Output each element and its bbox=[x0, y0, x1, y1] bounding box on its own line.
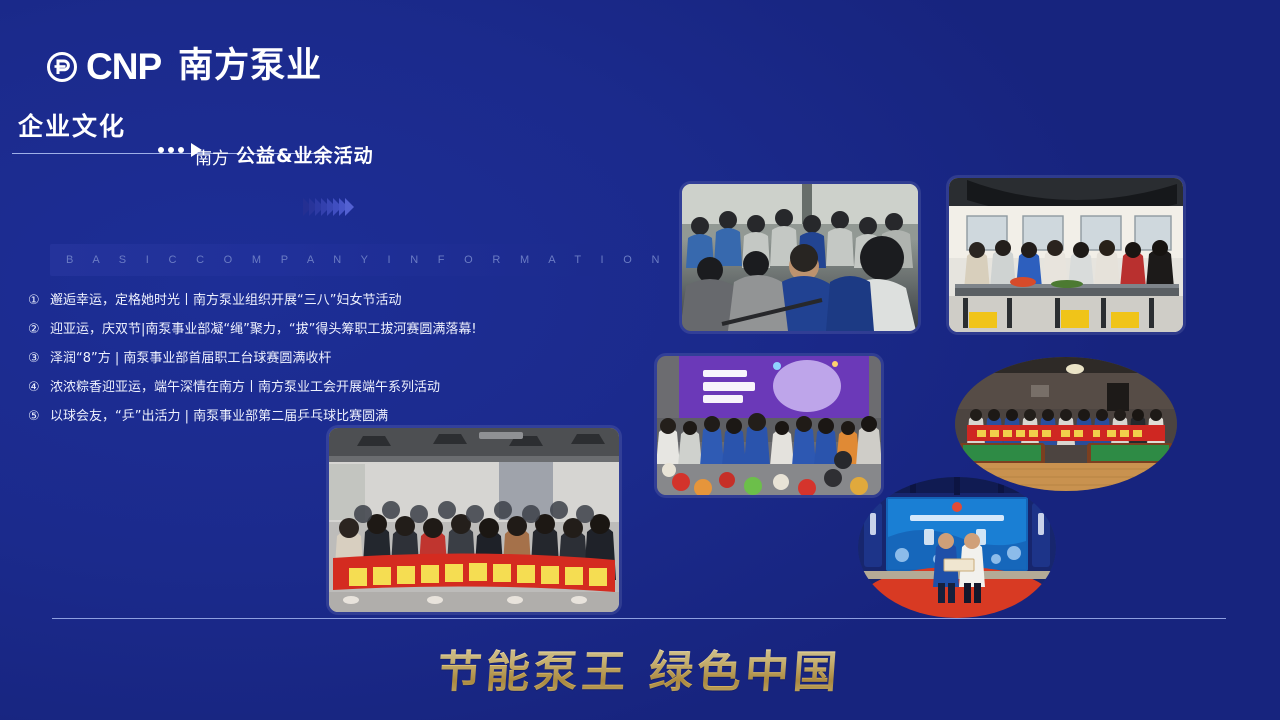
footer-slogan: 节能泵王 绿色中国 bbox=[436, 636, 844, 700]
photo-pingpong[interactable] bbox=[329, 428, 619, 612]
activity-list: ① 邂逅幸运，定格她时光丨南方泵业组织开展“三八”妇女节活动 ② 迎亚运，庆双节… bbox=[28, 292, 608, 437]
list-item-number: ⑤ bbox=[28, 408, 50, 426]
subtitle-prefix: 南方 bbox=[195, 144, 229, 169]
list-item-label: 邂逅幸运，定格她时光丨南方泵业组织开展“三八”妇女节活动 bbox=[50, 292, 401, 310]
brand-name-cn: 南方泵业 bbox=[178, 49, 322, 84]
brand-name-en: CNP bbox=[86, 48, 161, 85]
photo-billiards[interactable] bbox=[955, 357, 1177, 491]
cnp-circle-logo-icon bbox=[47, 52, 77, 82]
section-header: 企业文化 南方 公益&业余活动 bbox=[12, 113, 632, 141]
chevron-row-icon bbox=[303, 198, 351, 216]
list-item-number: ② bbox=[28, 321, 50, 339]
list-item-number: ① bbox=[28, 292, 50, 310]
list-item[interactable]: ① 邂逅幸运，定格她时光丨南方泵业组织开展“三八”妇女节活动 bbox=[28, 292, 608, 310]
list-item-label: 以球会友，“乒”出活力 | 南泵事业部第二届乒乓球比赛圆满 bbox=[50, 408, 388, 426]
footer: 节能泵王 绿色中国 bbox=[0, 636, 1280, 700]
slide-root: CNP 南方泵业 企业文化 南方 公益&业余活动 B A S I C C O M… bbox=[0, 0, 1280, 720]
list-item-number: ④ bbox=[28, 379, 50, 397]
subtitle: 公益&业余活动 bbox=[236, 141, 374, 168]
basic-company-information-band: B A S I C C O M P A N Y I N F O R M A T … bbox=[50, 244, 595, 276]
band-label: B A S I C C O M P A N Y I N F O R M A T … bbox=[50, 254, 668, 266]
list-item[interactable]: ② 迎亚运，庆双节|南泵事业部凝“绳”聚力，“拔”得头筹职工拔河赛圆满落幕! bbox=[28, 321, 608, 339]
photo-tugofwar[interactable] bbox=[682, 184, 918, 331]
page-title: 企业文化 bbox=[12, 113, 632, 141]
list-item[interactable]: ③ 泽润“8”方 | 南泵事业部首届职工台球赛圆满收杆 bbox=[28, 350, 608, 368]
list-item-label: 浓浓粽香迎亚运，端午深情在南方丨南方泵业工会开展端午系列活动 bbox=[50, 379, 440, 397]
list-item[interactable]: ⑤ 以球会友，“乒”出活力 | 南泵事业部第二届乒乓球比赛圆满 bbox=[28, 408, 608, 426]
list-item-label: 泽润“8”方 | 南泵事业部首届职工台球赛圆满收杆 bbox=[50, 350, 331, 368]
footer-divider bbox=[52, 618, 1226, 619]
list-item[interactable]: ④ 浓浓粽香迎亚运，端午深情在南方丨南方泵业工会开展端午系列活动 bbox=[28, 379, 608, 397]
list-item-label: 迎亚运，庆双节|南泵事业部凝“绳”聚力，“拔”得头筹职工拔河赛圆满落幕! bbox=[50, 321, 477, 339]
list-item-number: ③ bbox=[28, 350, 50, 368]
brand-logo: CNP 南方泵业 bbox=[47, 48, 322, 85]
photo-award[interactable] bbox=[858, 477, 1056, 618]
photo-event[interactable] bbox=[657, 356, 881, 495]
photo-canteen[interactable] bbox=[949, 178, 1183, 332]
